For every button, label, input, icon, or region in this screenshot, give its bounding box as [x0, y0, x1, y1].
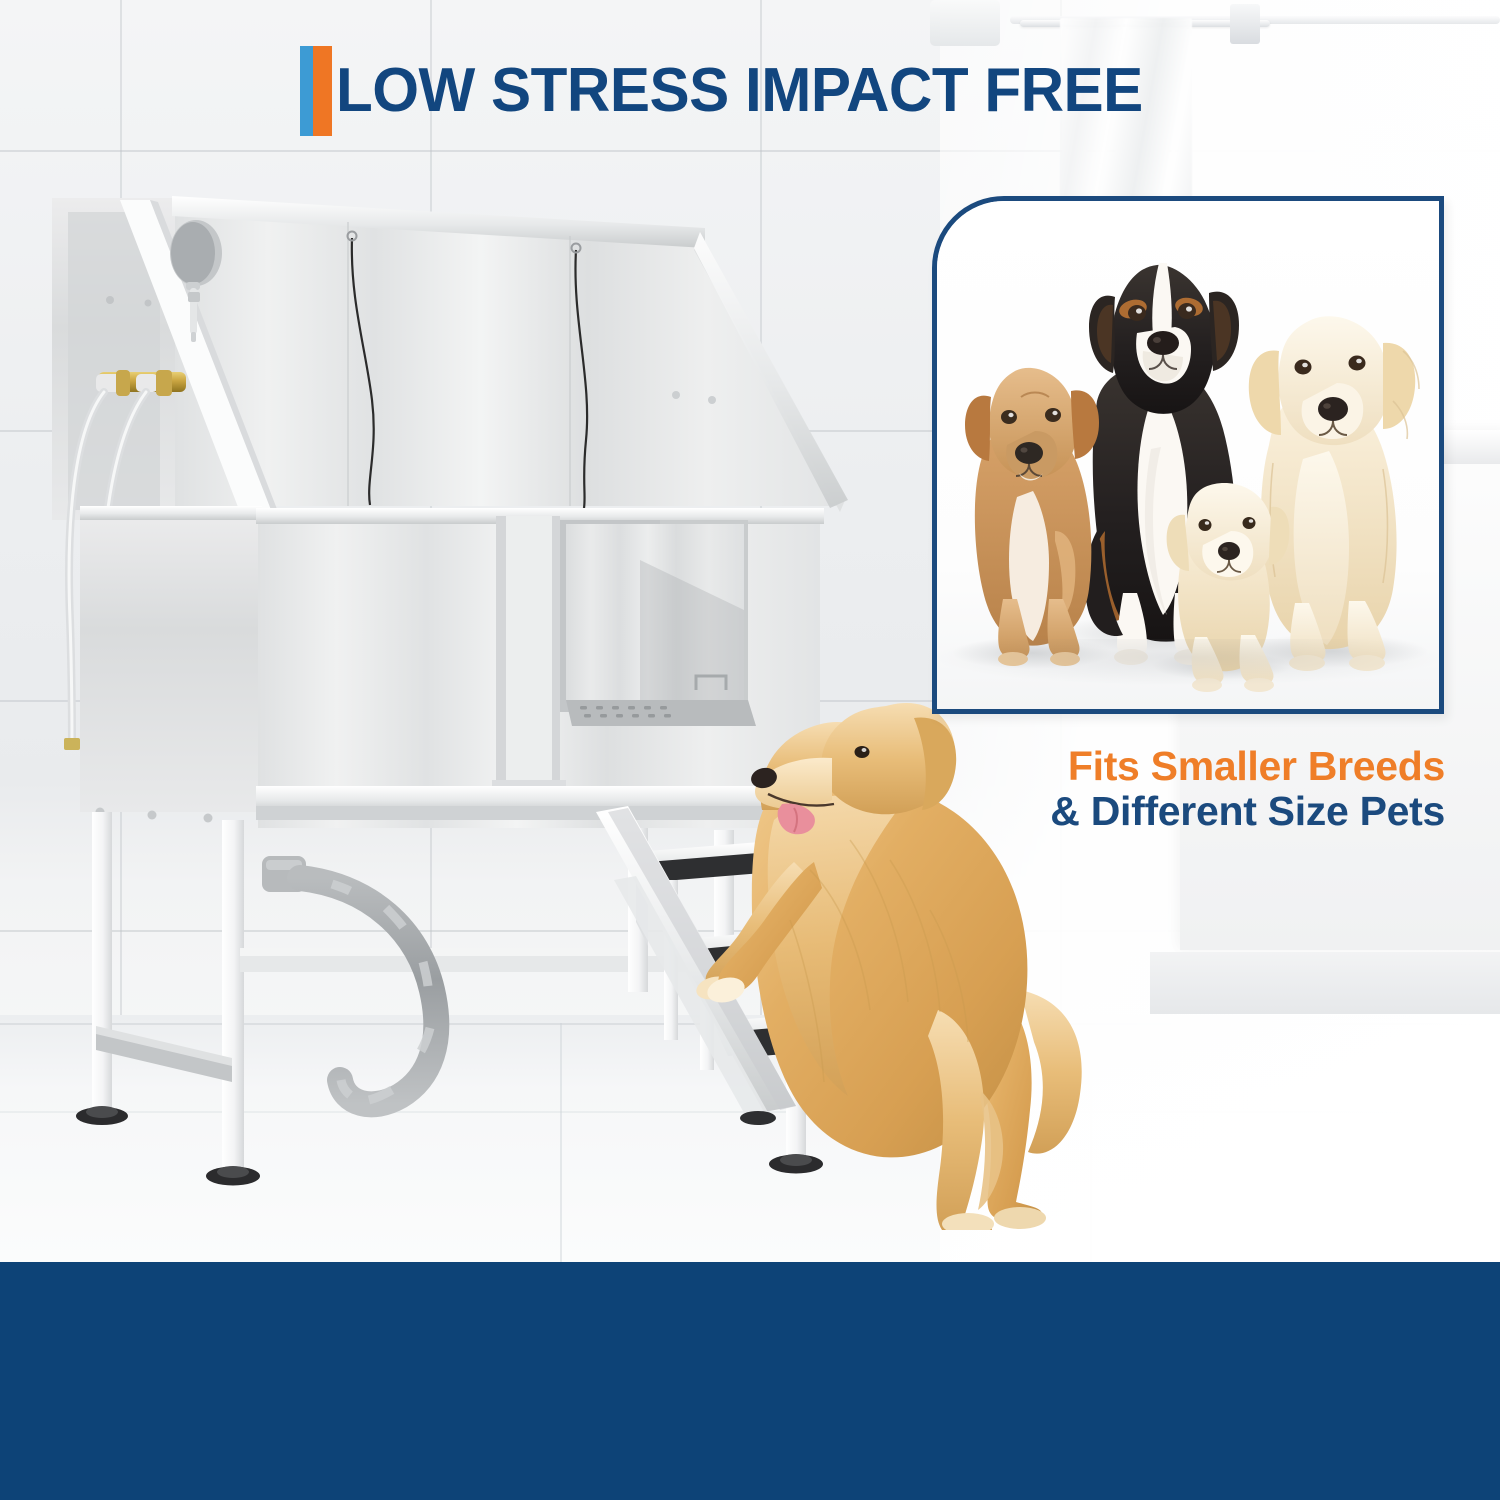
- inset-photo-smaller-breeds: [932, 196, 1444, 714]
- towel-rail-bracket: [1230, 4, 1260, 44]
- four-dogs-illustration: [937, 201, 1439, 709]
- feature-banner: Prevents Injuries Suitable for Older Dog…: [0, 1262, 1500, 1500]
- caption-line-1: Fits Smaller Breeds: [975, 745, 1445, 788]
- grooming-tub-product: [0, 0, 900, 1230]
- product-marketing-image: LOW STRESS IMPACT FREE: [0, 0, 1500, 1500]
- golden-retriever-puppy-right: [1249, 316, 1419, 671]
- baseboard: [1150, 952, 1500, 1014]
- caption-line-2: & Different Size Pets: [975, 790, 1445, 833]
- background-shower-head: [930, 0, 1000, 46]
- inset-caption: Fits Smaller Breeds & Different Size Pet…: [975, 745, 1445, 832]
